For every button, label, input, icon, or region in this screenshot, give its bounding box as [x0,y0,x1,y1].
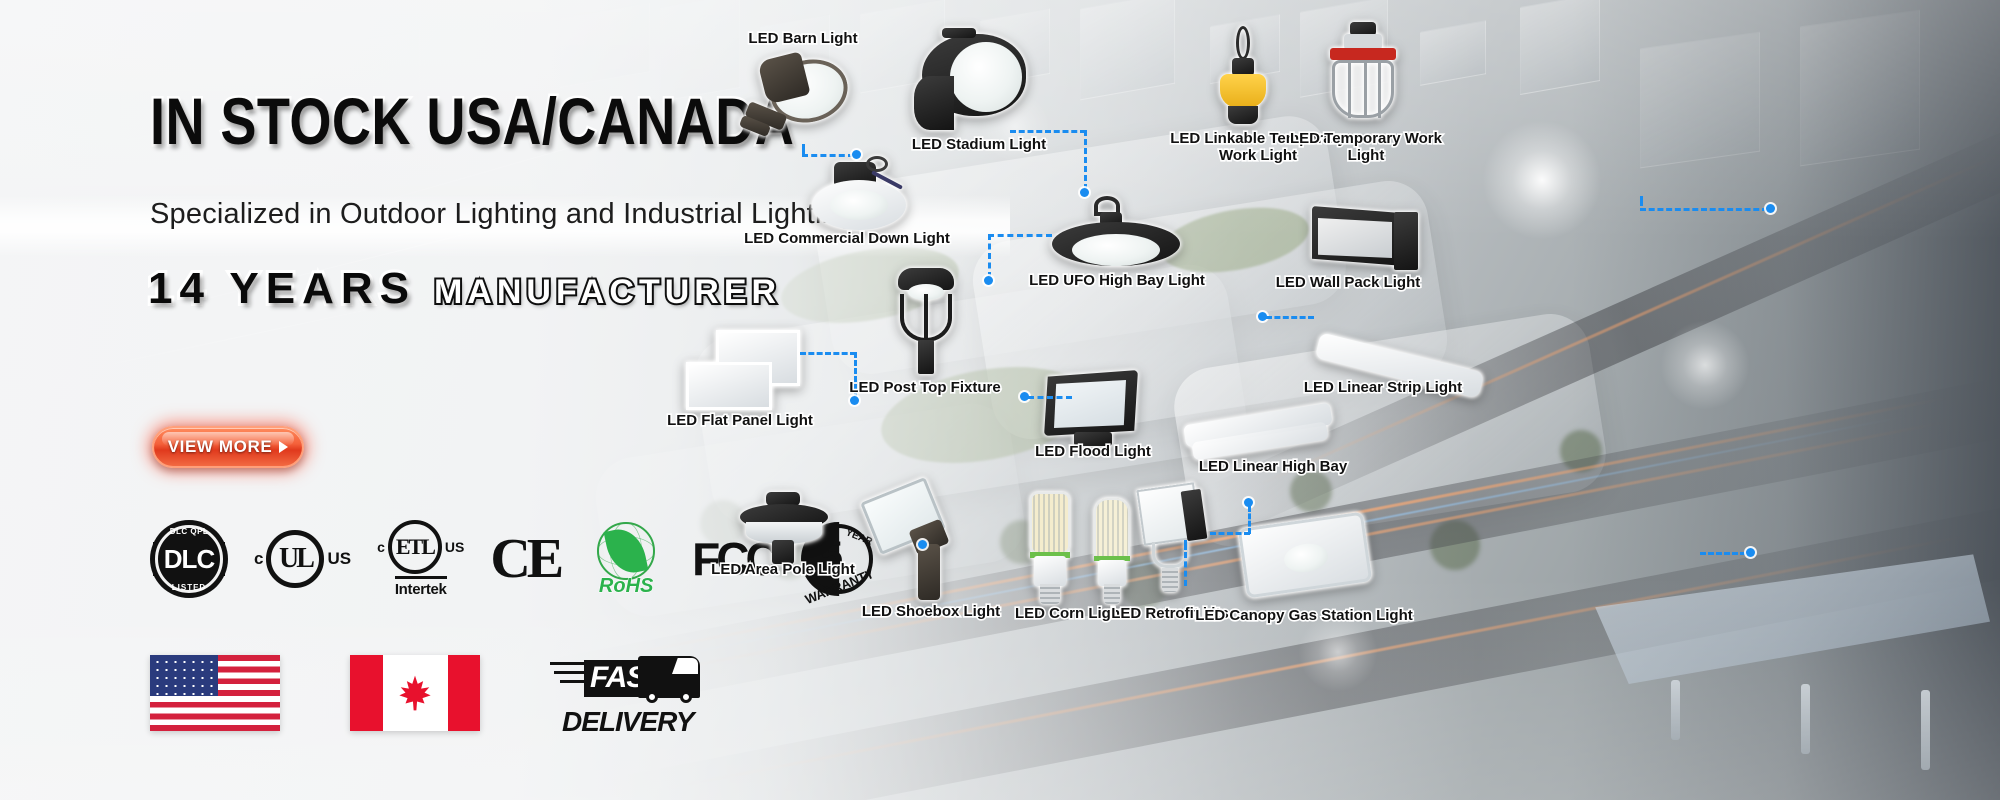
connector-temporary-work-light [1640,196,1780,214]
etl-suffix: US [445,539,464,555]
product-image-barn-light [740,52,850,147]
product-label-barn-light: LED Barn Light [748,30,857,47]
dlc-listed-logo: DLC QPL DLC LISTED [150,520,228,598]
product-image-linear-high-bay [1184,398,1334,462]
product-label-linear-strip-light: LED Linear Strip Light [1304,379,1462,396]
product-label-linear-high-bay: LED Linear High Bay [1199,458,1347,475]
product-image-post-top-fixture [890,264,962,374]
product-label-canopy-gas-station: LED Canopy Gas Station Light [1195,607,1413,624]
experience-line: 14 YEARS MANUFACTURER [148,264,781,314]
ul-mark: UL [279,543,312,575]
intertek-wordmark: Intertek [395,576,447,598]
product-image-shoebox-light [868,488,964,604]
ce-mark-logo: CE [490,531,560,587]
product-image-flood-light [1044,370,1144,448]
ul-prefix: c [254,549,263,569]
product-image-corn-light [1026,492,1074,604]
etl-mark: ETL [396,534,434,560]
canada-flag [350,655,480,731]
product-label-shoebox-light: LED Shoebox Light [862,603,1000,620]
product-label-stadium-light: LED Stadium Light [912,136,1046,153]
connector-flood-light [1020,392,1074,404]
ul-suffix: US [327,549,351,569]
usa-flag [150,655,280,731]
page-title: IN STOCK USA/CANADA [150,88,794,154]
maple-leaf-icon [398,673,432,713]
product-image-wall-pack-light [1312,206,1422,280]
delivery-line2: DELIVERY [562,706,694,738]
view-more-label: VIEW MORE [168,437,273,457]
product-label-ufo-high-bay: LED UFO High Bay Light [1029,272,1205,289]
product-image-temporary-work-light [1320,22,1408,132]
rohs-mark: RoHS [599,575,653,598]
product-image-area-pole-light [736,492,832,566]
product-image-flat-panel-light [686,330,802,412]
flags-and-delivery-row: FAST DELIVERY [150,648,700,738]
product-image-stadium-light [912,28,1042,138]
connector-retrofit-kits [1210,498,1254,542]
product-label-area-pole-light: LED Area Pole Light [711,561,855,578]
label-text: LED Temporary Work Light [1290,130,1442,164]
connector-area-pole-light [918,540,930,552]
connector-canopy-gas-station [1700,548,1758,560]
fast-delivery-logo: FAST DELIVERY [550,648,700,738]
promo-banner: IN STOCK USA/CANADA Specialized in Outdo… [0,0,2000,800]
cul-us-logo: c UL US [254,530,351,588]
product-image-ufo-high-bay [1048,196,1184,280]
product-label-post-top-fixture: LED Post Top Fixture [849,379,1000,396]
product-image-canopy-gas-station [1242,520,1370,598]
product-image-corn-light-2 [1090,498,1134,606]
cetl-us-intertek-logo: c ETL US Intertek [377,520,464,598]
product-label-flat-panel-light: LED Flat Panel Light [667,412,813,429]
delivery-truck-icon [638,656,700,698]
product-image-linear-strip-light [1318,328,1488,386]
product-label-corn-light: LED Corn Light [1015,605,1125,622]
manufacturer-word: MANUFACTURER [434,273,781,312]
play-arrow-icon [279,441,288,453]
connector-wall-pack-light [1258,312,1316,324]
ce-mark: CE [490,531,560,587]
product-label-commercial-down-light: LED Commercial Down Light [744,230,950,247]
product-label-wall-pack-light: LED Wall Pack Light [1276,274,1420,291]
connector-barn-light [802,144,862,158]
years-badge: 14 YEARS [148,264,416,314]
view-more-button[interactable]: VIEW MORE [152,426,304,468]
connector-shoebox-light [1182,540,1194,588]
product-image-commercial-down-light [804,156,912,234]
product-label-temporary-work-light: LED Temporary Work Light [1271,130,1461,165]
product-image-retrofit-kits [1140,486,1212,604]
product-label-flood-light: LED Flood Light [1035,443,1151,460]
rohs-logo: RoHS [586,520,666,598]
product-image-linkable-work-light [1210,26,1276,130]
etl-prefix: c [377,539,385,555]
dlc-bottom-text: LISTED [150,583,228,592]
